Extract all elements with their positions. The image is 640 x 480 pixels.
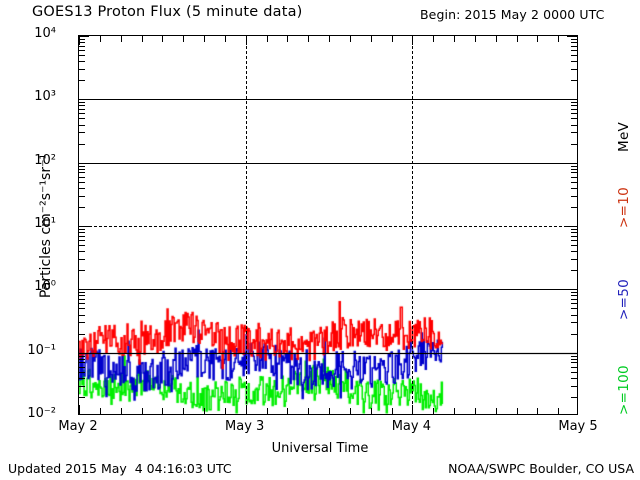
y-axis-major-tick [567, 99, 577, 100]
y-axis-minor-tick [571, 80, 577, 81]
gridline-horizontal [79, 353, 577, 354]
x-axis-tick-label: May 3 [205, 419, 285, 434]
y-axis-major-tick [567, 353, 577, 354]
x-axis-minor-tick [267, 36, 268, 42]
legend-unit-mev: MeV [616, 122, 632, 152]
y-axis-minor-tick [571, 105, 577, 106]
x-axis-minor-tick [121, 408, 122, 414]
y-axis-tick-label: 10¹ [34, 216, 56, 231]
y-axis-minor-tick [79, 303, 85, 304]
y-axis-minor-tick [79, 172, 85, 173]
y-axis-minor-tick [571, 182, 577, 183]
y-axis-major-tick [79, 289, 89, 290]
x-axis-minor-tick [162, 36, 163, 42]
y-axis-minor-tick [571, 50, 577, 51]
x-axis-minor-tick [433, 36, 434, 42]
x-axis-minor-tick [517, 408, 518, 414]
y-axis-minor-tick [571, 240, 577, 241]
y-axis-minor-tick [571, 397, 577, 398]
proton-flux-plot-page: GOES13 Proton Flux (5 minute data) Begin… [0, 0, 640, 480]
y-axis-minor-tick [79, 196, 85, 197]
begin-time-label: Begin: 2015 May 2 0000 UTC [420, 7, 604, 22]
y-axis-tick-label: 10³ [34, 89, 56, 104]
gridline-horizontal [79, 99, 577, 100]
x-axis-minor-tick [392, 408, 393, 414]
x-axis-minor-tick [392, 36, 393, 42]
x-axis-minor-tick [371, 36, 372, 42]
y-axis-minor-tick [79, 299, 85, 300]
x-axis-minor-tick [558, 408, 559, 414]
legend-item-ge10: >=10 [616, 187, 632, 228]
y-axis-minor-tick [79, 259, 85, 260]
y-axis-minor-tick [79, 177, 85, 178]
x-axis-tick-label: May 2 [38, 419, 118, 434]
y-axis-minor-tick [571, 125, 577, 126]
x-axis-minor-tick [142, 408, 143, 414]
y-axis-minor-tick [79, 166, 85, 167]
x-axis-minor-tick [183, 408, 184, 414]
y-axis-minor-tick [79, 292, 85, 293]
y-axis-minor-tick [79, 236, 85, 237]
y-axis-tick-label: 10² [34, 153, 56, 168]
y-axis-minor-tick [79, 240, 85, 241]
x-axis-minor-tick [100, 36, 101, 42]
x-axis-minor-tick [142, 36, 143, 42]
y-axis-minor-tick [79, 397, 85, 398]
x-axis-tick-label: May 4 [371, 419, 451, 434]
y-axis-minor-tick [79, 46, 85, 47]
x-axis-minor-tick [558, 36, 559, 42]
y-axis-minor-tick [79, 359, 85, 360]
x-axis-major-tick [412, 36, 413, 45]
x-axis-minor-tick [496, 36, 497, 42]
y-axis-major-tick [567, 226, 577, 227]
y-axis-minor-tick [79, 105, 85, 106]
y-axis-minor-tick [571, 372, 577, 373]
x-axis-minor-tick [183, 36, 184, 42]
gridline-vertical-day-boundary [246, 36, 247, 414]
y-axis-minor-tick [79, 386, 85, 387]
x-axis-major-tick [79, 36, 80, 45]
y-axis-minor-tick [571, 322, 577, 323]
y-axis-minor-tick [571, 61, 577, 62]
y-axis-minor-tick [571, 172, 577, 173]
y-axis-minor-tick [79, 270, 85, 271]
x-axis-label: Universal Time [0, 441, 640, 456]
y-axis-minor-tick [571, 251, 577, 252]
y-axis-minor-tick [79, 118, 85, 119]
y-axis-minor-tick [79, 362, 85, 363]
x-axis-minor-tick [329, 408, 330, 414]
x-axis-minor-tick [100, 408, 101, 414]
y-axis-minor-tick [571, 46, 577, 47]
y-axis-minor-tick [79, 334, 85, 335]
y-axis-minor-tick [571, 177, 577, 178]
y-axis-minor-tick [79, 245, 85, 246]
y-axis-minor-tick [79, 169, 85, 170]
y-axis-minor-tick [571, 188, 577, 189]
y-axis-minor-tick [571, 232, 577, 233]
y-axis-minor-tick [571, 102, 577, 103]
x-axis-minor-tick [350, 36, 351, 42]
gridline-horizontal-dashed [79, 226, 577, 227]
y-axis-minor-tick [571, 386, 577, 387]
y-axis-minor-tick [79, 132, 85, 133]
y-axis-minor-tick [79, 102, 85, 103]
y-axis-major-tick [79, 226, 89, 227]
y-axis-minor-tick [571, 144, 577, 145]
legend-item-ge50: >=50 [616, 279, 632, 320]
y-axis-minor-tick [79, 55, 85, 56]
x-axis-minor-tick [225, 408, 226, 414]
y-axis-minor-tick [571, 236, 577, 237]
y-axis-minor-tick [571, 359, 577, 360]
gridline-horizontal [79, 163, 577, 164]
y-axis-minor-tick [79, 109, 85, 110]
y-axis-major-tick [567, 289, 577, 290]
agency-credit: NOAA/SWPC Boulder, CO USA [448, 461, 634, 476]
y-axis-minor-tick [571, 259, 577, 260]
y-axis-major-tick [79, 163, 89, 164]
x-axis-minor-tick [454, 36, 455, 42]
y-axis-minor-tick [571, 42, 577, 43]
x-axis-minor-tick [204, 408, 205, 414]
gridline-vertical-day-boundary [412, 36, 413, 414]
page-title: GOES13 Proton Flux (5 minute data) [32, 4, 303, 20]
x-axis-minor-tick [371, 408, 372, 414]
y-axis-minor-tick [571, 39, 577, 40]
y-axis-minor-tick [79, 232, 85, 233]
x-axis-major-tick [79, 405, 80, 414]
y-axis-tick-label: 10⁻¹ [27, 343, 56, 358]
x-axis-major-tick [246, 36, 247, 45]
x-axis-minor-tick [454, 408, 455, 414]
x-axis-minor-tick [287, 408, 288, 414]
legend-item-ge100: >=100 [616, 365, 632, 415]
gridline-horizontal [79, 289, 577, 290]
y-axis-minor-tick [571, 113, 577, 114]
y-axis-minor-tick [79, 188, 85, 189]
y-axis-minor-tick [79, 356, 85, 357]
y-axis-minor-tick [571, 356, 577, 357]
y-axis-major-tick [79, 99, 89, 100]
x-axis-minor-tick [329, 36, 330, 42]
y-axis-minor-tick [79, 144, 85, 145]
y-axis-minor-tick [79, 125, 85, 126]
plot-area [78, 35, 578, 415]
y-axis-tick-label: 10⁰ [34, 279, 56, 294]
x-axis-major-tick [412, 405, 413, 414]
x-axis-minor-tick [204, 36, 205, 42]
x-axis-minor-tick [475, 408, 476, 414]
y-axis-minor-tick [79, 182, 85, 183]
y-axis-minor-tick [571, 315, 577, 316]
y-axis-major-tick [79, 36, 89, 37]
y-axis-minor-tick [571, 245, 577, 246]
y-axis-major-tick [567, 163, 577, 164]
y-axis-minor-tick [79, 322, 85, 323]
y-axis-minor-tick [571, 299, 577, 300]
x-axis-minor-tick [537, 408, 538, 414]
y-axis-minor-tick [571, 229, 577, 230]
y-axis-minor-tick [79, 207, 85, 208]
y-axis-minor-tick [79, 229, 85, 230]
y-axis-minor-tick [79, 295, 85, 296]
y-axis-minor-tick [571, 132, 577, 133]
x-axis-minor-tick [350, 408, 351, 414]
y-axis-minor-tick [571, 118, 577, 119]
y-axis-minor-tick [571, 270, 577, 271]
x-axis-minor-tick [162, 408, 163, 414]
y-axis-tick-label: 10⁴ [34, 26, 56, 41]
updated-timestamp: Updated 2015 May 4 04:16:03 UTC [8, 461, 232, 476]
y-axis-minor-tick [571, 378, 577, 379]
y-axis-minor-tick [79, 113, 85, 114]
x-axis-minor-tick [475, 36, 476, 42]
y-axis-minor-tick [79, 378, 85, 379]
y-axis-minor-tick [571, 169, 577, 170]
y-axis-major-tick [567, 36, 577, 37]
x-axis-minor-tick [121, 36, 122, 42]
x-axis-minor-tick [496, 408, 497, 414]
y-axis-minor-tick [79, 80, 85, 81]
y-axis-minor-tick [571, 295, 577, 296]
y-axis-minor-tick [571, 69, 577, 70]
y-axis-minor-tick [79, 69, 85, 70]
y-axis-major-tick [79, 353, 89, 354]
x-axis-major-tick [246, 405, 247, 414]
y-axis-minor-tick [571, 303, 577, 304]
x-axis-minor-tick [517, 36, 518, 42]
x-axis-minor-tick [287, 36, 288, 42]
y-axis-minor-tick [571, 308, 577, 309]
y-axis-minor-tick [79, 251, 85, 252]
y-axis-minor-tick [571, 292, 577, 293]
y-axis-minor-tick [571, 362, 577, 363]
y-axis-minor-tick [571, 166, 577, 167]
y-axis-minor-tick [571, 196, 577, 197]
x-axis-minor-tick [308, 36, 309, 42]
y-axis-minor-tick [571, 367, 577, 368]
y-axis-minor-tick [79, 372, 85, 373]
y-axis-minor-tick [571, 334, 577, 335]
y-axis-minor-tick [79, 308, 85, 309]
y-axis-minor-tick [79, 61, 85, 62]
x-axis-minor-tick [537, 36, 538, 42]
x-axis-minor-tick [225, 36, 226, 42]
y-axis-minor-tick [571, 109, 577, 110]
x-axis-minor-tick [433, 408, 434, 414]
x-axis-minor-tick [308, 408, 309, 414]
y-axis-minor-tick [571, 207, 577, 208]
x-axis-tick-label: May 5 [538, 419, 618, 434]
x-axis-minor-tick [267, 408, 268, 414]
y-axis-minor-tick [79, 367, 85, 368]
y-axis-minor-tick [79, 50, 85, 51]
y-axis-minor-tick [79, 315, 85, 316]
y-axis-minor-tick [571, 55, 577, 56]
